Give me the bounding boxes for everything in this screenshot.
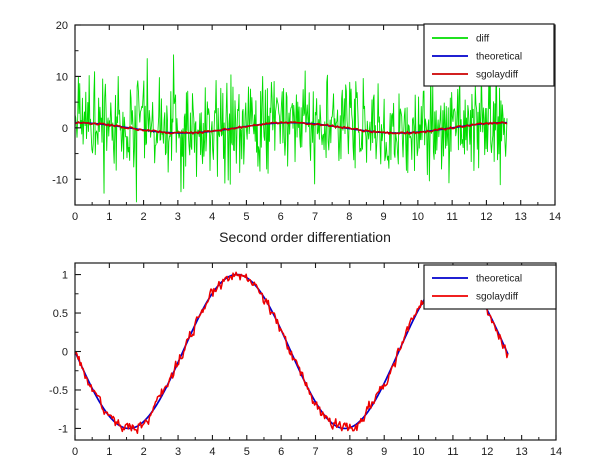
y-tick-label: 0.5	[53, 308, 68, 320]
x-tick-label: 14	[550, 446, 562, 458]
x-tick-label: 5	[243, 211, 249, 223]
x-tick-label: 8	[347, 446, 353, 458]
y-tick-label: -0.5	[49, 385, 68, 397]
legend-label-sgolaydiff: sgolaydiff	[476, 70, 518, 81]
x-tick-label: 2	[141, 211, 147, 223]
x-tick-label: 1	[106, 446, 112, 458]
x-tick-label: 4	[209, 211, 215, 223]
legend-label-sgolaydiff: sgolaydiff	[476, 292, 518, 303]
x-tick-label: 3	[175, 211, 181, 223]
chart-title: Second order differentiation	[219, 229, 391, 245]
bottom-panel-legend[interactable]: theoreticalsgolaydiff	[424, 265, 556, 309]
x-tick-label: 2	[141, 446, 147, 458]
x-tick-label: 4	[209, 446, 215, 458]
x-tick-label: 10	[412, 446, 424, 458]
x-tick-label: 0	[72, 211, 78, 223]
y-tick-label: 0	[62, 347, 68, 359]
x-tick-label: 11	[447, 446, 458, 458]
y-tick-label: 1	[62, 270, 68, 282]
y-tick-label: -10	[52, 174, 68, 186]
y-tick-label: -1	[58, 423, 68, 435]
x-tick-label: 13	[516, 446, 528, 458]
legend-label-theoretical: theoretical	[476, 52, 522, 63]
figure-canvas: 01234567891011121314-1001020 difftheoret…	[0, 0, 610, 460]
x-tick-label: 9	[381, 211, 387, 223]
x-tick-label: 8	[346, 211, 352, 223]
x-tick-label: 3	[175, 446, 181, 458]
x-tick-label: 9	[381, 446, 387, 458]
x-tick-label: 0	[72, 446, 78, 458]
x-tick-label: 13	[515, 211, 527, 223]
x-tick-label: 7	[312, 446, 318, 458]
top-panel-legend[interactable]: difftheoreticalsgolaydiff	[424, 24, 554, 86]
chart-svg: 01234567891011121314-1001020 difftheoret…	[0, 0, 610, 460]
y-tick-label: 20	[56, 20, 68, 32]
x-tick-label: 11	[446, 211, 457, 223]
x-tick-label: 10	[412, 211, 424, 223]
x-tick-label: 1	[106, 211, 112, 223]
x-tick-label: 12	[481, 446, 493, 458]
x-tick-label: 7	[312, 211, 318, 223]
x-tick-label: 14	[549, 211, 561, 223]
x-tick-label: 5	[244, 446, 250, 458]
x-tick-label: 6	[278, 211, 284, 223]
y-tick-label: 0	[62, 123, 68, 135]
x-tick-label: 6	[278, 446, 284, 458]
x-tick-label: 12	[480, 211, 492, 223]
legend-label-theoretical: theoretical	[476, 274, 522, 285]
y-tick-label: 10	[56, 71, 68, 83]
legend-label-diff: diff	[476, 34, 489, 45]
